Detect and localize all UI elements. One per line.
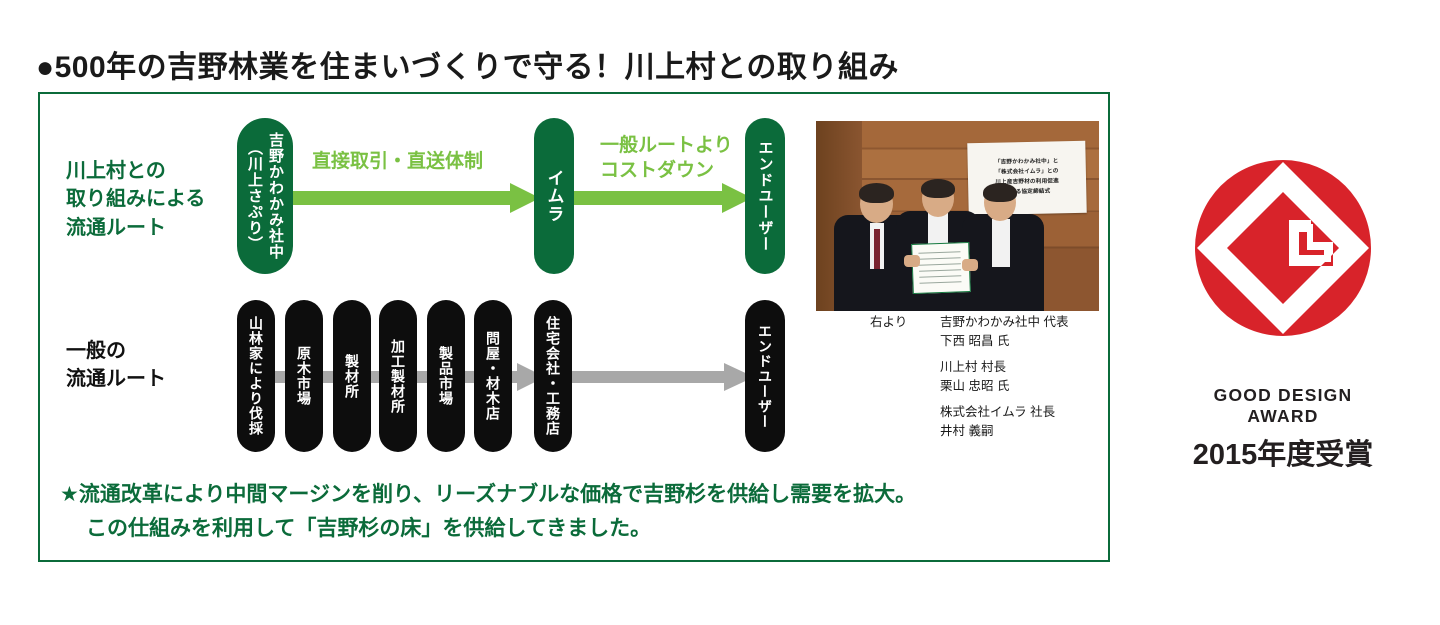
photo-person-right bbox=[962, 185, 1044, 311]
arrow-general-to-end-user bbox=[570, 363, 754, 391]
arrow-direct-trade-caption: 直接取引・直送体制 bbox=[312, 150, 483, 175]
caption-spacer-2 bbox=[870, 358, 940, 397]
node-tonya-zaimokuten: 問屋・材木店 bbox=[474, 300, 512, 452]
caption-person-3: 株式会社イムラ 社長 井村 義嗣 bbox=[940, 403, 1055, 442]
award-year: 2015年度受賞 bbox=[1178, 431, 1388, 473]
node-genboku-ichiba: 原木市場 bbox=[285, 300, 323, 452]
node-seihin-ichiba: 製品市場 bbox=[427, 300, 465, 452]
node-yoshino-kawakami-shachu: 吉野かわかみ社中（川上さぷり） bbox=[237, 118, 293, 274]
caption-row-3: 株式会社イムラ 社長 井村 義嗣 bbox=[870, 403, 1068, 442]
node-sanrinka: 山林家により伐採 bbox=[237, 300, 275, 452]
caption-lead: 右より bbox=[870, 313, 940, 352]
photo-hand-left bbox=[904, 255, 920, 267]
caption-row-1: 右より 吉野かわかみ社中 代表 下西 昭昌 氏 bbox=[870, 313, 1068, 352]
node-imura: イムラ bbox=[534, 118, 574, 274]
route-label-kawakami: 川上村との 取り組みによる 流通ルート bbox=[66, 157, 205, 242]
caption-person-1: 吉野かわかみ社中 代表 下西 昭昌 氏 bbox=[940, 313, 1068, 352]
award-text-block: GOOD DESIGN AWARD 2015年度受賞 bbox=[1178, 385, 1388, 473]
arrow-direct-trade bbox=[288, 183, 540, 213]
summary-note-line-2: この仕組みを利用して「吉野杉の床」を供給してきました。 bbox=[60, 512, 916, 546]
route-label-general: 一般の 流通ルート bbox=[66, 337, 166, 394]
node-end-user-kawakami-route: エンドユーザー bbox=[745, 118, 785, 274]
summary-note: ★流通改革により中間マージンを削り、リーズナブルな価格で吉野杉を供給し需要を拡大… bbox=[60, 478, 916, 546]
arrow-cost-down bbox=[570, 183, 752, 213]
node-seizaisho: 製材所 bbox=[333, 300, 371, 452]
node-jutaku-koumuten: 住宅会社・工務店 bbox=[534, 300, 572, 452]
ceremony-photo: 「吉野かわかみ社中」と 「株式会社イムラ」との 川上産吉野材の利用促進 に係る協… bbox=[816, 121, 1099, 311]
arrow-cost-down-caption: 一般ルートより コストダウン bbox=[600, 134, 733, 183]
photo-caption: 右より 吉野かわかみ社中 代表 下西 昭昌 氏 川上村 村長 栗山 忠昭 氏 株… bbox=[870, 313, 1068, 447]
infographic-page: ●500年の吉野林業を住まいづくりで守る！川上村との取り組み 川上村との 取り組… bbox=[0, 0, 1440, 625]
caption-row-2: 川上村 村長 栗山 忠昭 氏 bbox=[870, 358, 1068, 397]
good-design-award-g-mark-icon bbox=[1195, 160, 1371, 336]
summary-note-line-1: ★流通改革により中間マージンを削り、リーズナブルな価格で吉野杉を供給し需要を拡大… bbox=[60, 483, 916, 506]
caption-spacer-3 bbox=[870, 403, 940, 442]
caption-person-2: 川上村 村長 栗山 忠昭 氏 bbox=[940, 358, 1009, 397]
node-end-user-general-route: エンドユーザー bbox=[745, 300, 785, 452]
award-name: GOOD DESIGN AWARD bbox=[1178, 385, 1388, 427]
node-kakou-seizaisho: 加工製材所 bbox=[379, 300, 417, 452]
page-title: ●500年の吉野林業を住まいづくりで守る！川上村との取り組み bbox=[36, 42, 899, 86]
photo-hand-right bbox=[962, 259, 978, 271]
